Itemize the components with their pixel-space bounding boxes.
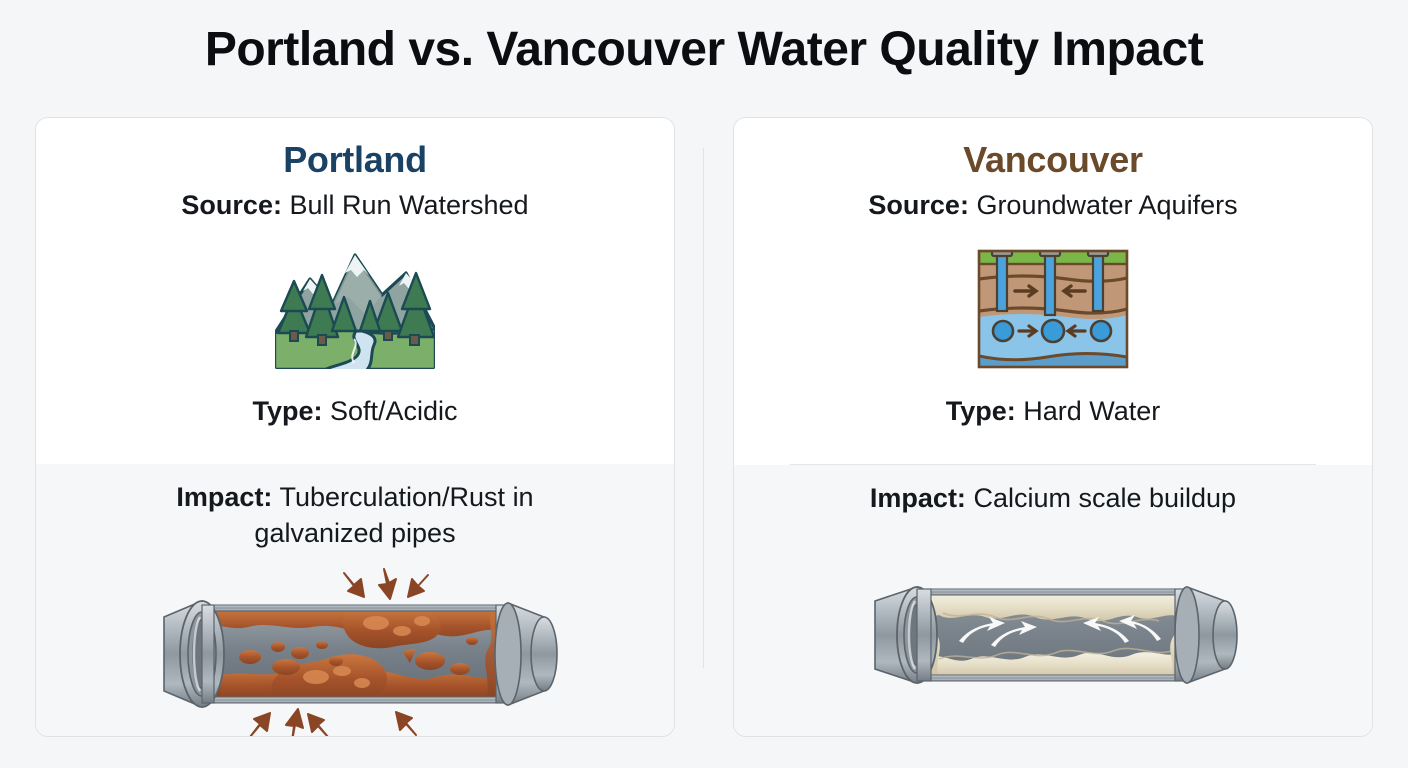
portland-impact-section: Impact: Tuberculation/Rust in galvanized… [36, 464, 674, 737]
portland-type-label: Type: [252, 396, 322, 426]
vancouver-type-line: Type: Hard Water [946, 395, 1161, 429]
vancouver-source-value: Groundwater Aquifers [969, 190, 1238, 220]
portland-source-label: Source: [181, 190, 282, 220]
vancouver-type-value: Hard Water [1016, 396, 1161, 426]
rusty-pipe-cutaway-icon [140, 565, 570, 737]
city-title-vancouver: Vancouver [963, 138, 1142, 181]
portland-impact-label: Impact: [176, 482, 272, 512]
vancouver-impact-label: Impact: [870, 483, 966, 513]
portland-source-line: Source: Bull Run Watershed [181, 189, 528, 223]
city-title-portland: Portland [283, 138, 427, 181]
vancouver-source-label: Source: [868, 190, 969, 220]
vancouver-impact-value: Calcium scale buildup [966, 483, 1236, 513]
vancouver-impact-section: Impact: Calcium scale buildup [734, 465, 1372, 736]
portland-impact-value: Tuberculation/Rust in galvanized pipes [254, 482, 533, 548]
groundwater-aquifer-icon [967, 237, 1139, 373]
scaled-pipe-cutaway-icon [853, 565, 1253, 705]
portland-type-value: Soft/Acidic [322, 396, 457, 426]
city-card-portland[interactable]: Portland Source: Bull Run Watershed [35, 117, 675, 737]
city-card-vancouver[interactable]: Vancouver Source: Groundwater Aquifers [733, 117, 1373, 737]
vancouver-type-label: Type: [946, 396, 1016, 426]
portland-impact-line: Impact: Tuberculation/Rust in galvanized… [115, 480, 595, 551]
page-title: Portland vs. Vancouver Water Quality Imp… [0, 24, 1408, 77]
portland-source-section: Portland Source: Bull Run Watershed [36, 118, 674, 464]
mountain-watershed-icon [270, 237, 440, 373]
vancouver-source-section: Vancouver Source: Groundwater Aquifers [734, 118, 1372, 464]
vancouver-impact-line: Impact: Calcium scale buildup [870, 481, 1236, 517]
vancouver-source-line: Source: Groundwater Aquifers [868, 189, 1237, 223]
comparison-cards: Portland Source: Bull Run Watershed [35, 117, 1373, 737]
portland-source-value: Bull Run Watershed [282, 190, 529, 220]
portland-type-line: Type: Soft/Acidic [252, 395, 457, 429]
